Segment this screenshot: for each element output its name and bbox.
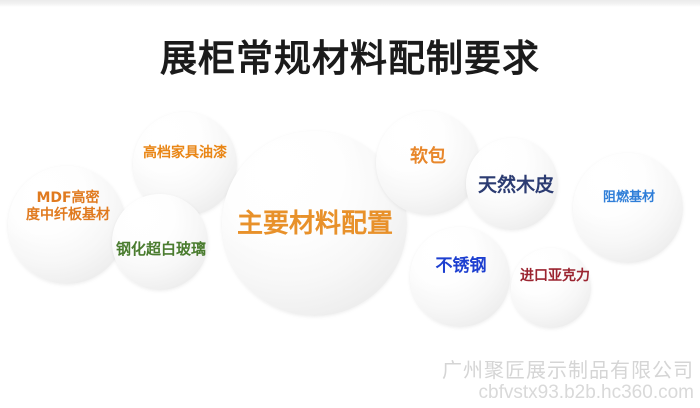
watermark-url: cbfvstx93.b2b.hc360.com [442,382,694,404]
bubble-label-soft-pack: 软包 [390,146,466,168]
bubble-label-flame-retardant-substrate: 阻燃基材 [588,190,670,206]
bubble-label-tempered-glass: 钢化超白玻璃 [110,240,212,258]
bubble-label-stainless-steel: 不锈钢 [420,256,502,277]
bubble-label-mdf-line1: MDF高密 [36,190,99,206]
bubble-label-natural-veneer: 天然木皮 [466,174,566,197]
page-title: 展柜常规材料配制要求 [0,28,700,82]
bubble-mdf[interactable] [8,166,126,284]
bubble-stainless-steel[interactable] [410,227,510,327]
infographic-canvas: 展柜常规材料配制要求 MDF高密 度中纤板基材 高档家具油漆 钢化超白玻璃 主要… [0,0,700,408]
bubble-label-imported-acrylic: 进口亚克力 [513,268,597,285]
bubble-flame-retardant-substrate[interactable] [573,153,683,263]
top-edge-band [0,0,700,7]
watermark: 广州聚匠展示制品有限公司 cbfvstx93.b2b.hc360.com [442,354,694,404]
bubble-label-main-materials: 主要材料配置 [232,209,398,241]
bubble-label-furniture-paint: 高档家具油漆 [132,145,238,162]
bubble-imported-acrylic[interactable] [511,248,591,328]
bubble-label-mdf-line2: 度中纤板基材 [26,207,110,223]
bubble-label-mdf: MDF高密 度中纤板基材 [16,190,120,224]
watermark-company-name: 广州聚匠展示制品有限公司 [442,354,694,383]
